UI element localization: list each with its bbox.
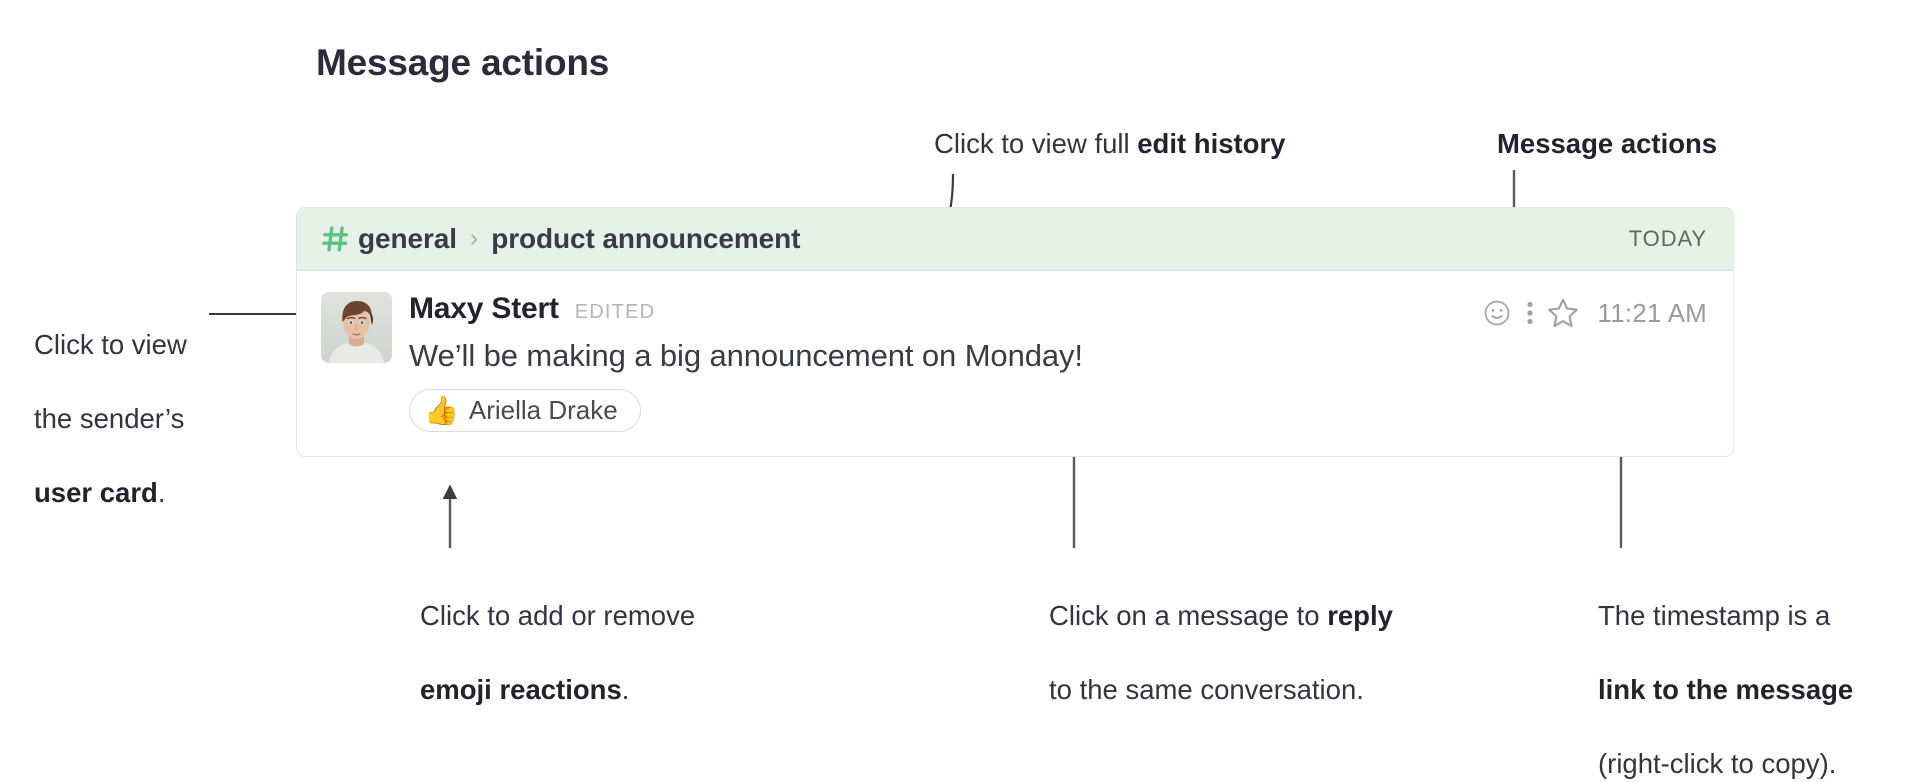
message-row[interactable]: Maxy Stert EDITED We’ll be making a big … <box>297 271 1733 432</box>
thumbs-up-emoji: 👍 <box>424 397 459 425</box>
message-actions-bar: 11:21 AM <box>1477 293 1707 333</box>
reaction-pill[interactable]: 👍 Ariella Drake <box>409 389 641 432</box>
edited-badge[interactable]: EDITED <box>575 301 656 324</box>
star-message-icon[interactable] <box>1543 293 1583 333</box>
channel-header: general › product announcement TODAY <box>297 208 1733 271</box>
annotation-timestamp-bold: link to the message <box>1598 674 1853 705</box>
breadcrumb-channel[interactable]: general <box>358 223 457 255</box>
annotation-edit-history-bold: edit history <box>1137 128 1285 159</box>
reaction-label: Ariella Drake <box>469 395 618 426</box>
message-actions-menu-icon[interactable] <box>1517 293 1543 333</box>
message-body[interactable]: We’ll be making a big announcement on Mo… <box>409 336 1707 376</box>
annotation-timestamp: The timestamp is a link to the message (… <box>1598 560 1853 782</box>
page-title: Message actions <box>316 42 609 84</box>
message-card: general › product announcement TODAY <box>296 207 1734 457</box>
annotation-user-card-line2: the sender’s <box>34 403 184 434</box>
hash-icon <box>321 224 351 254</box>
annotation-message-actions-bold: Message actions <box>1497 128 1717 159</box>
annotation-user-card-end: . <box>158 477 166 508</box>
annotation-user-card: Click to view the sender’s user card. <box>34 289 187 511</box>
breadcrumb-topic[interactable]: product announcement <box>491 223 800 255</box>
breadcrumb-separator-icon: › <box>470 224 478 253</box>
annotation-user-card-line1: Click to view <box>34 329 187 360</box>
annotation-user-card-bold: user card <box>34 477 158 508</box>
date-label: TODAY <box>1629 226 1707 252</box>
avatar[interactable] <box>321 292 392 363</box>
annotation-emoji-reactions-bold: emoji reactions <box>420 674 622 705</box>
annotation-emoji-reactions-pre: Click to add or remove <box>420 600 695 631</box>
annotation-timestamp-pre: The timestamp is a <box>1598 600 1830 631</box>
annotation-timestamp-post: (right-click to copy). <box>1598 748 1836 779</box>
annotation-reply-pre: Click on a message to <box>1049 600 1327 631</box>
annotation-reply-post: to the same conversation. <box>1049 674 1364 705</box>
annotation-reply: Click on a message to reply to the same … <box>1049 560 1393 708</box>
message-timestamp-link[interactable]: 11:21 AM <box>1597 298 1707 329</box>
emoji-reaction-icon[interactable] <box>1477 293 1517 333</box>
annotation-reply-bold: reply <box>1327 600 1393 631</box>
annotation-emoji-reactions: Click to add or remove emoji reactions. <box>420 560 695 708</box>
annotation-edit-history-pre: Click to view full <box>934 128 1137 159</box>
reaction-row: 👍 Ariella Drake <box>409 389 1707 432</box>
sender-name[interactable]: Maxy Stert <box>409 292 559 326</box>
annotation-emoji-reactions-end: . <box>622 674 630 705</box>
